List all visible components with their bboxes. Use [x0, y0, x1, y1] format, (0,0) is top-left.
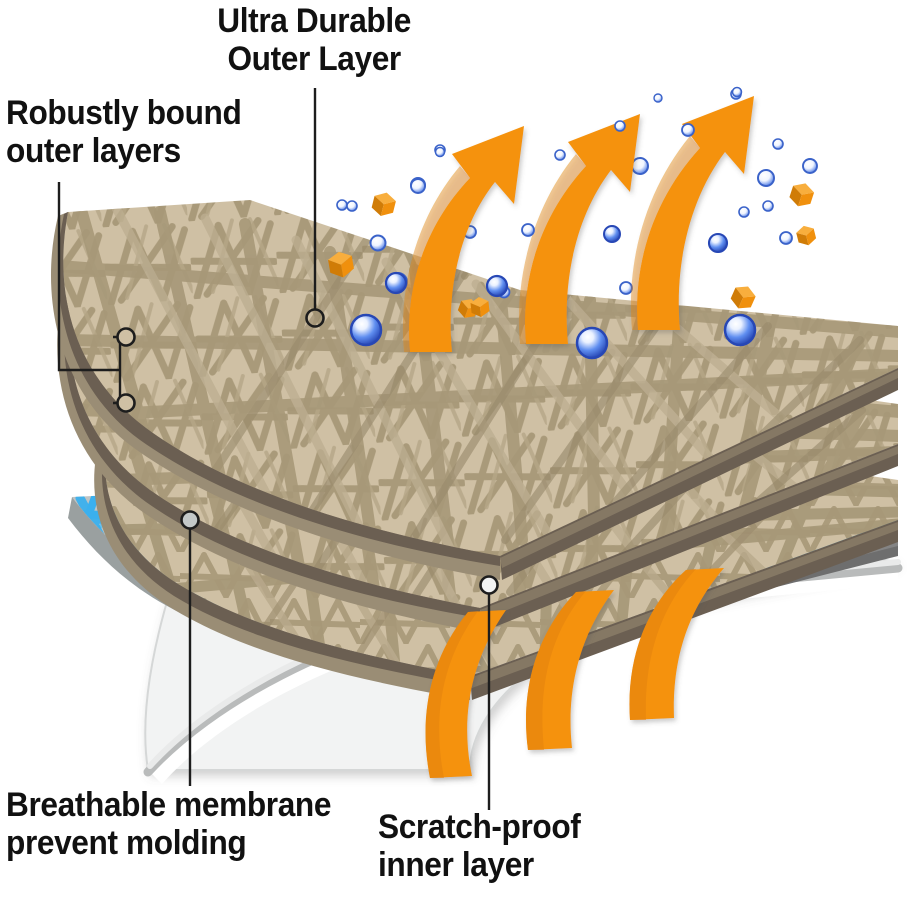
leader-dot-robustly-bound-upper [118, 329, 135, 346]
callout-label-breathable-membrane: Breathable membrane prevent molding [6, 786, 331, 863]
leader-dot-robustly-bound-lower [118, 395, 135, 412]
callout-label-robustly-bound-outer-layers: Robustly bound outer layers [6, 94, 241, 171]
infographic-canvas: Ultra Durable Outer Layer Robustly bound… [0, 0, 916, 902]
leader-dot-scratch-proof [481, 577, 498, 594]
leader-dot-breathable-membrane [182, 512, 199, 529]
callout-label-scratch-proof-inner-layer: Scratch-proof inner layer [378, 808, 580, 885]
callout-label-ultra-durable-outer-layer: Ultra Durable Outer Layer [217, 2, 411, 79]
